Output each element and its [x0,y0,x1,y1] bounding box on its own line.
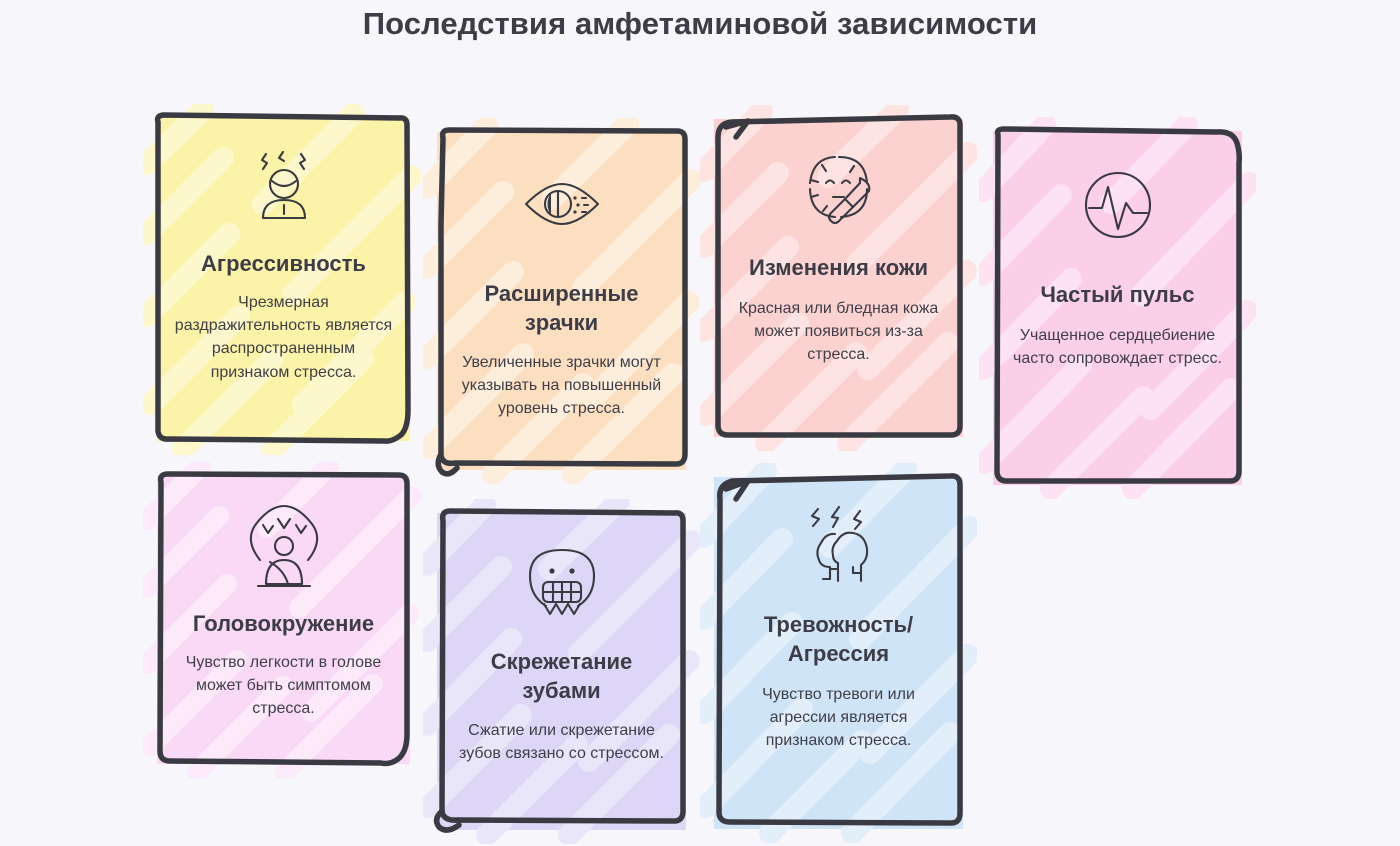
eye-dilated-pupil-icon [520,162,604,246]
card-title: Головокружение [193,609,374,638]
card-title: Скрежетание зубами [453,647,670,705]
card-rapid-pulse[interactable]: Частый пульс Учащенное сердцебиение част… [993,131,1242,485]
two-heads-lightning-icon [797,503,881,587]
angry-person-icon [242,144,326,228]
card-body: Увеличенные зрачки могут указывать на по… [453,351,670,421]
card-anxiety-aggression[interactable]: Тревожность/ Агрессия Чувство тревоги ил… [714,477,963,829]
card-dizziness[interactable]: Головокружение Чувство легкости в голове… [157,476,410,764]
card-title: Частый пульс [1040,280,1194,309]
card-body: Красная или бледная кожа может появиться… [730,297,947,367]
card-title: Тревожность/ Агрессия [730,610,947,668]
card-body: Чрезмерная раздражительность является ра… [173,291,394,384]
dizzy-person-icon [236,498,332,594]
pulse-circle-icon [1076,163,1160,247]
card-teeth-grinding[interactable]: Скрежетание зубами Сжатие или скрежетани… [437,513,686,830]
card-body: Чувство легкости в голове может быть сим… [173,651,394,721]
card-title: Расширенные зрачки [453,279,670,337]
card-body: Учащенное сердцебиение часто сопровождае… [1009,324,1226,370]
card-body: Чувство тревоги или агрессии является пр… [730,683,947,753]
card-title: Изменения кожи [749,253,928,282]
card-body: Сжатие или скрежетание зубов связано со … [453,719,670,765]
grinding-teeth-face-icon [520,538,604,622]
card-title: Агрессивность [201,249,366,278]
cards-board: Агрессивность Чрезмерная раздражительнос… [0,0,1400,846]
card-skin-changes[interactable]: Изменения кожи Красная или бледная кожа … [714,119,963,437]
face-brush-icon [797,147,881,231]
card-aggressiveness[interactable]: Агрессивность Чрезмерная раздражительнос… [157,118,410,441]
card-dilated-pupils[interactable]: Расширенные зрачки Увеличенные зрачки мо… [437,132,686,470]
